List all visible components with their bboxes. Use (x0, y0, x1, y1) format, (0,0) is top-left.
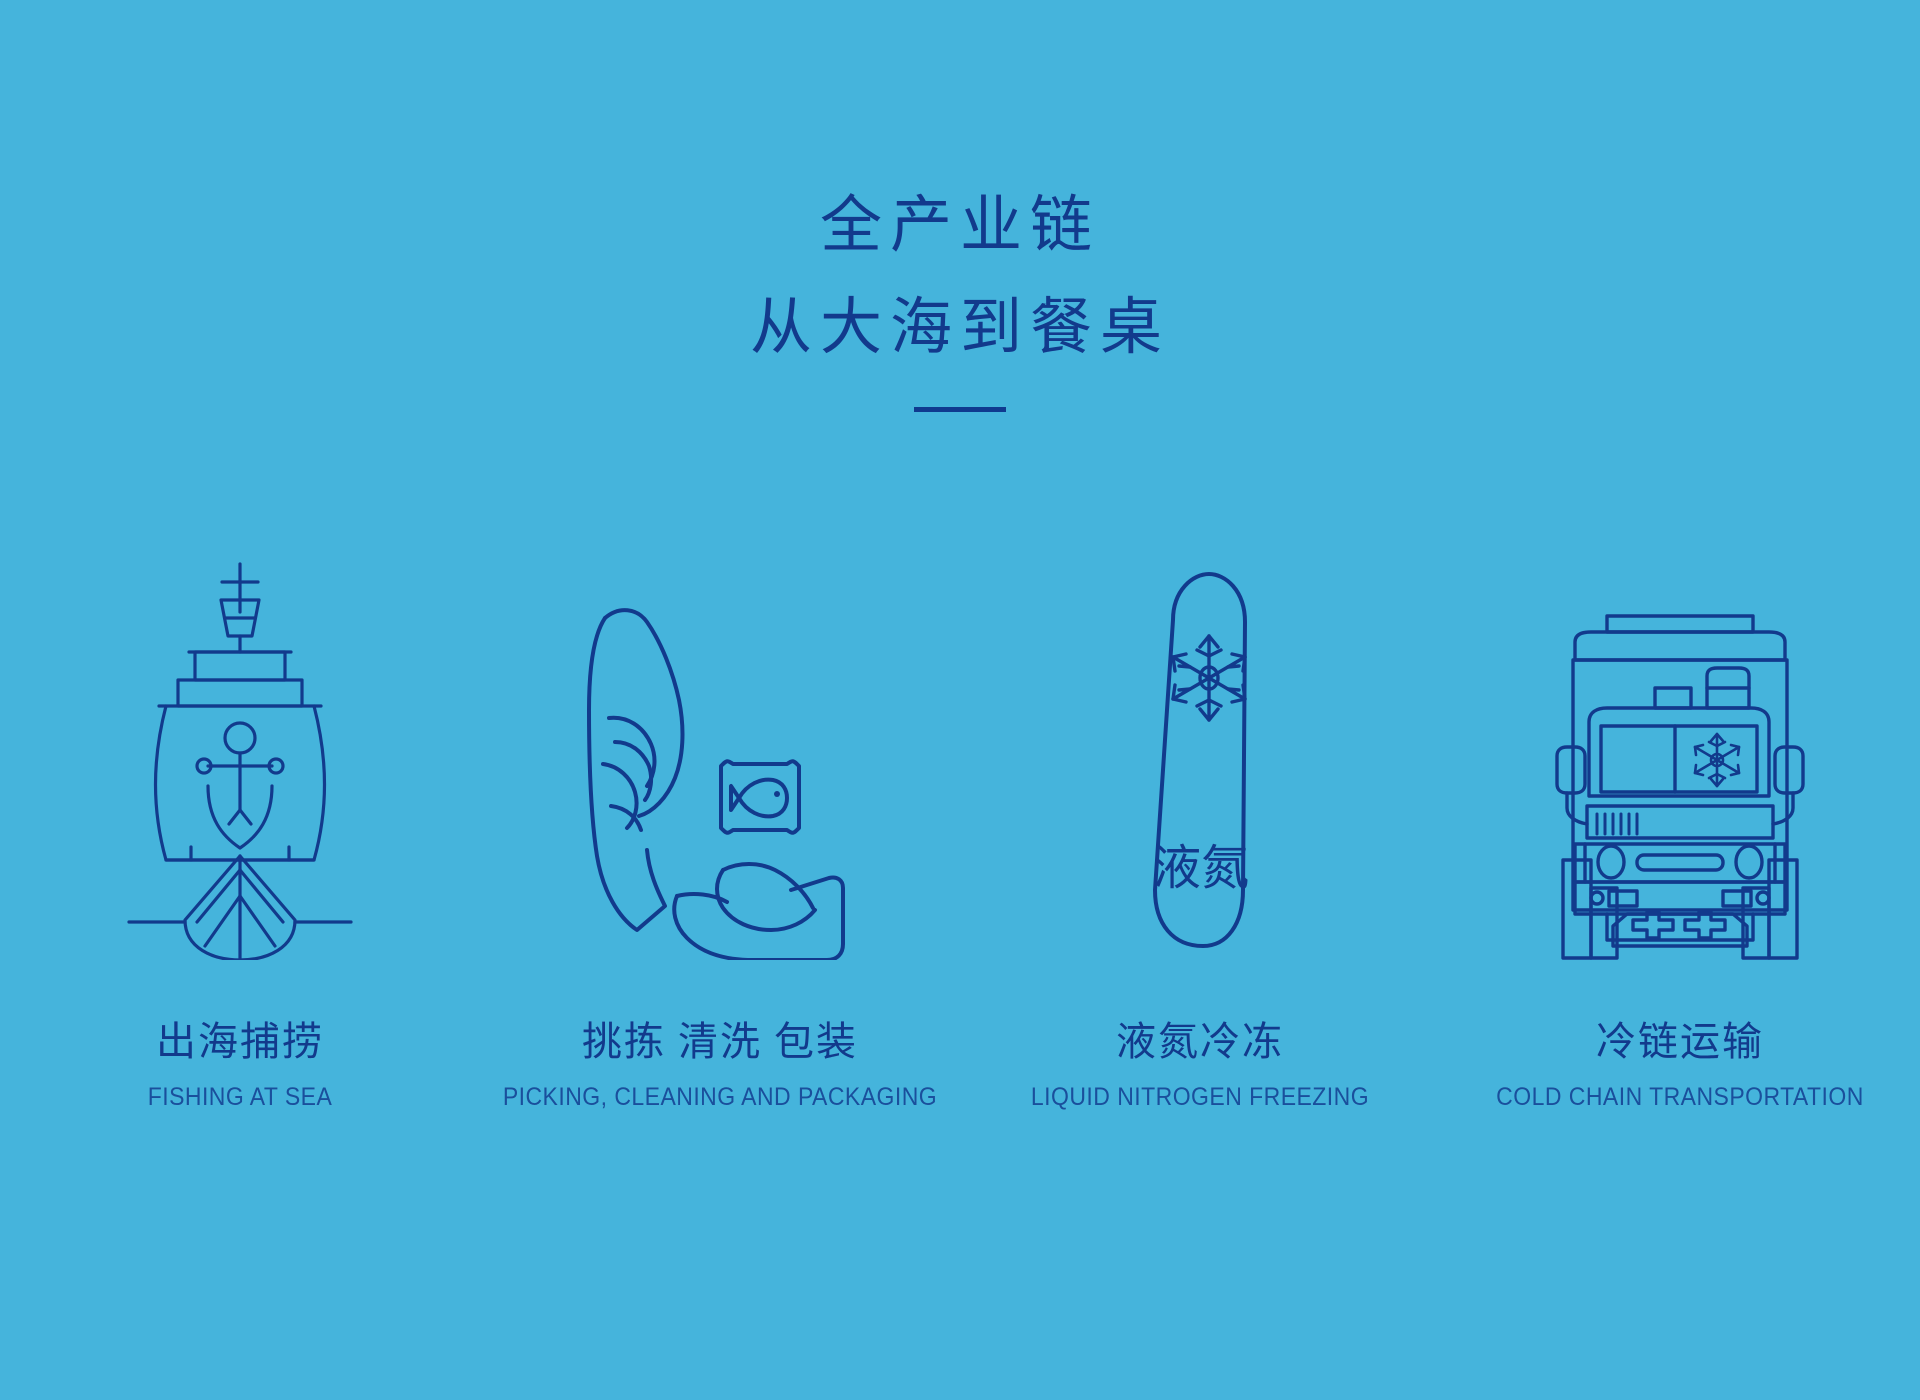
heading-line-1: 全产业链 (0, 175, 1920, 277)
fishing-boat-iconbox (0, 560, 480, 960)
hands-fish-package-icon (575, 600, 865, 960)
step-1-label: 出海捕捞 FISHING AT SEA (0, 1015, 480, 1117)
step-1-label-cn: 出海捕捞 (0, 1015, 480, 1069)
page-heading: 全产业链 从大海到餐桌 (0, 175, 1920, 412)
heading-divider (914, 407, 1006, 412)
step-4-icon-cell (1440, 520, 1920, 960)
refrigerated-truck-icon (1545, 610, 1815, 960)
refrigerated-truck-iconbox (1440, 610, 1920, 960)
step-2-label-en: PICKING, CLEANING AND PACKAGING (499, 1077, 941, 1117)
infographic-page: 全产业链 从大海到餐桌 (0, 0, 1920, 1400)
step-4-label-en: COLD CHAIN TRANSPORTATION (1459, 1077, 1901, 1117)
step-3-label-en: LIQUID NITROGEN FREEZING (979, 1077, 1421, 1117)
tank-label-text: 液氮 (1153, 842, 1249, 895)
step-3-label-cn: 液氮冷冻 (960, 1015, 1440, 1069)
step-3-label: 液氮冷冻 LIQUID NITROGEN FREEZING (960, 1015, 1440, 1117)
liquid-nitrogen-tank-iconbox: 液氮 (960, 560, 1440, 960)
hands-fish-package-iconbox (480, 600, 960, 960)
liquid-nitrogen-tank-icon: 液氮 (1125, 560, 1275, 960)
step-4-label: 冷链运输 COLD CHAIN TRANSPORTATION (1440, 1015, 1920, 1117)
step-3-icon-cell: 液氮 (960, 520, 1440, 960)
step-2-label-cn: 挑拣 清洗 包装 (480, 1015, 960, 1069)
step-4-label-cn: 冷链运输 (1440, 1015, 1920, 1069)
process-label-row: 出海捕捞 FISHING AT SEA 挑拣 清洗 包装 PICKING, CL… (0, 1015, 1920, 1117)
step-2-label: 挑拣 清洗 包装 PICKING, CLEANING AND PACKAGING (480, 1015, 960, 1117)
fishing-boat-icon (125, 560, 355, 960)
step-2-icon-cell (480, 520, 960, 960)
step-1-icon-cell (0, 520, 480, 960)
heading-line-2: 从大海到餐桌 (0, 277, 1920, 379)
process-icon-row: 液氮 (0, 520, 1920, 960)
step-1-label-en: FISHING AT SEA (19, 1077, 461, 1117)
heading-divider-wrap (0, 407, 1920, 412)
